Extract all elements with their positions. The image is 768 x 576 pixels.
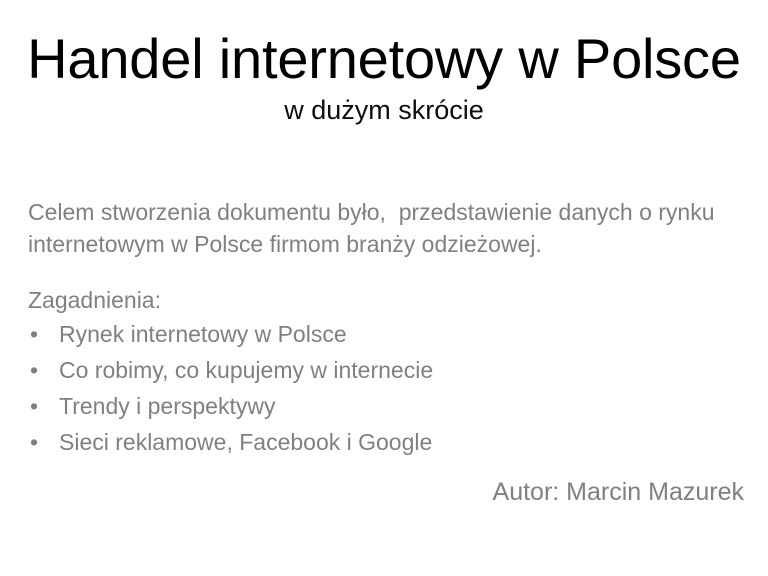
bullet-icon: • (30, 424, 38, 460)
bullet-icon: • (30, 388, 38, 424)
list-item-label: Sieci reklamowe, Facebook i Google (59, 429, 432, 455)
list-item: • Rynek internetowy w Polsce (28, 316, 744, 352)
agenda-list: • Rynek internetowy w Polsce • Co robimy… (28, 316, 744, 460)
list-item-label: Trendy i perspektywy (59, 393, 275, 419)
author-line: Autor: Marcin Mazurek (28, 476, 744, 508)
list-item-label: Co robimy, co kupujemy w internecie (59, 357, 433, 383)
bullet-icon: • (30, 316, 38, 352)
list-item: • Trendy i perspektywy (28, 388, 744, 424)
list-item: • Sieci reklamowe, Facebook i Google (28, 424, 744, 460)
slide-title: Handel internetowy w Polsce (0, 28, 768, 90)
list-item-label: Rynek internetowy w Polsce (59, 321, 347, 347)
list-item: • Co robimy, co kupujemy w internecie (28, 352, 744, 388)
title-block: Handel internetowy w Polsce w dużym skró… (0, 28, 768, 128)
presentation-slide: Handel internetowy w Polsce w dużym skró… (0, 0, 768, 576)
slide-body: Celem stworzenia dokumentu było, przedst… (28, 196, 744, 460)
bullet-icon: • (30, 352, 38, 388)
slide-subtitle: w dużym skrócie (0, 92, 768, 128)
intro-paragraph: Celem stworzenia dokumentu było, przedst… (28, 196, 744, 260)
agenda-heading: Zagadnienia: (28, 260, 744, 316)
